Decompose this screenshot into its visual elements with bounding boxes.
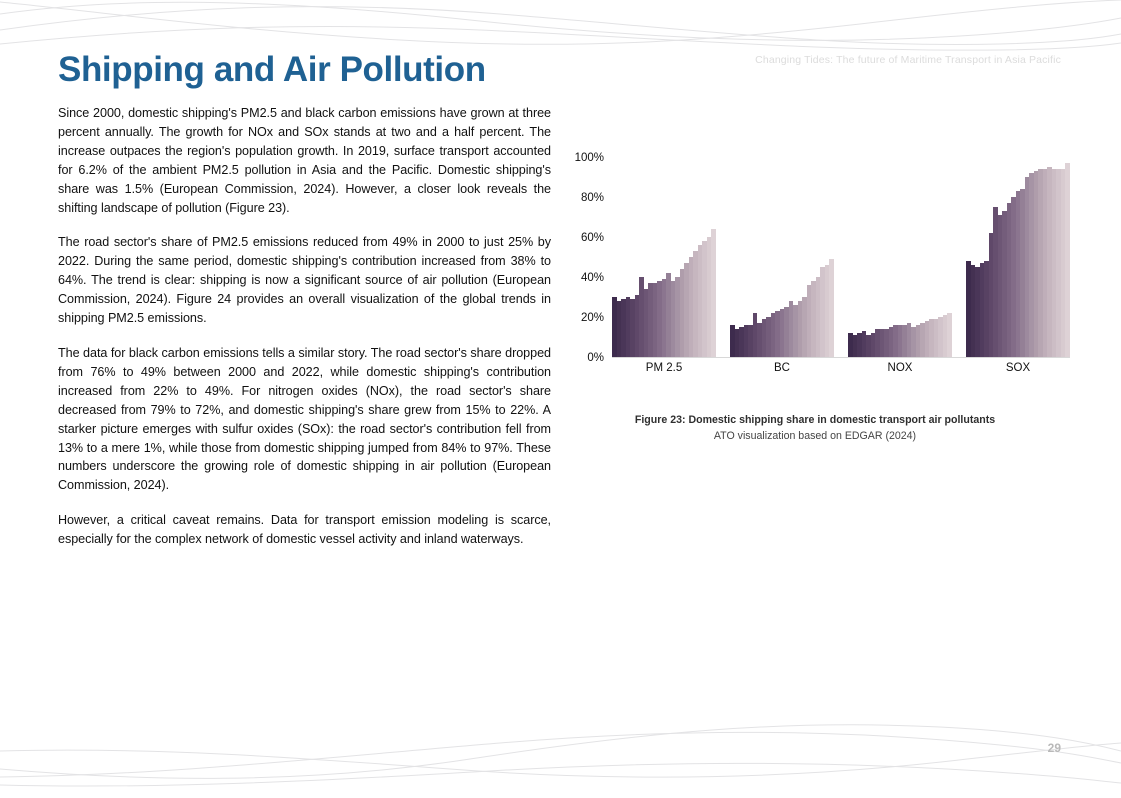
chart-bar — [711, 229, 716, 357]
chart-y-tick: 40% — [581, 272, 604, 284]
chart-y-tick: 20% — [581, 312, 604, 324]
page-number: 29 — [1048, 741, 1061, 755]
running-header: Changing Tides: The future of Maritime T… — [755, 54, 1061, 66]
figure-23-block: 0%20%40%60%80%100% PM 2.5BCNOXSOX Figure… — [560, 158, 1070, 444]
chart-y-axis: 0%20%40%60%80%100% — [560, 158, 604, 358]
figure-caption-title: Figure 23: Domestic shipping share in do… — [560, 412, 1070, 428]
chart-bar — [1065, 163, 1070, 357]
figure-caption: Figure 23: Domestic shipping share in do… — [560, 412, 1070, 444]
chart-bar-group — [848, 158, 952, 357]
body-paragraph: However, a critical caveat remains. Data… — [58, 511, 551, 549]
body-paragraph: The road sector's share of PM2.5 emissio… — [58, 233, 551, 328]
chart-bar-group — [730, 158, 834, 357]
chart-x-axis-line — [612, 357, 1070, 358]
figure-caption-source: ATO visualization based on EDGAR (2024) — [560, 428, 1070, 444]
chart-x-label: SOX — [966, 362, 1070, 374]
chart-x-label: PM 2.5 — [612, 362, 716, 374]
chart-y-tick: 100% — [575, 152, 604, 164]
chart-x-axis-labels: PM 2.5BCNOXSOX — [612, 362, 1070, 374]
decorative-wave-bottom — [0, 713, 1121, 793]
body-text-column: Since 2000, domestic shipping's PM2.5 an… — [58, 104, 551, 549]
chart-x-label: NOX — [848, 362, 952, 374]
bar-chart: 0%20%40%60%80%100% PM 2.5BCNOXSOX — [560, 158, 1070, 378]
chart-y-tick: 0% — [587, 352, 604, 364]
chart-y-tick: 60% — [581, 232, 604, 244]
chart-bar-group — [966, 158, 1070, 357]
body-paragraph: Since 2000, domestic shipping's PM2.5 an… — [58, 104, 551, 217]
chart-x-label: BC — [730, 362, 834, 374]
chart-bar-groups — [612, 158, 1070, 357]
chart-bar — [947, 313, 952, 357]
chart-y-tick: 80% — [581, 192, 604, 204]
body-paragraph: The data for black carbon emissions tell… — [58, 344, 551, 495]
chart-bar-group — [612, 158, 716, 357]
chart-bar — [829, 259, 834, 357]
page-title: Shipping and Air Pollution — [58, 51, 486, 90]
chart-plot-area — [612, 158, 1070, 358]
